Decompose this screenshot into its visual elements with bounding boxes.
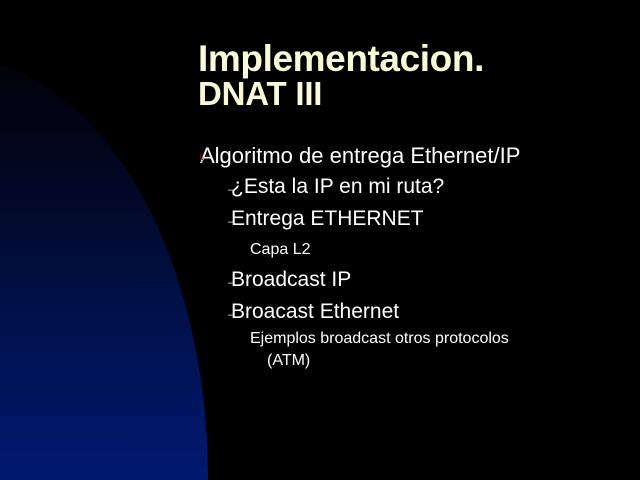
- bullet-marker-icon: §: [199, 143, 204, 174]
- bullet-item-label: Broadcast IP: [231, 264, 351, 296]
- bullet-item-level2: – Broacast Ethernet: [198, 296, 628, 328]
- bullet-item-label-continued: (ATM): [250, 350, 600, 372]
- slide-title-line-1: Implementacion.: [198, 41, 628, 77]
- bullet-item-label: Entrega ETHERNET: [231, 203, 424, 235]
- bullet-item-level2: – Entrega ETHERNET: [198, 203, 628, 235]
- bullet-item-level2: – Broadcast IP: [198, 264, 628, 296]
- bullet-item-label: Algoritmo de entrega Ethernet/IP: [200, 140, 520, 171]
- bullet-item-level3: Capa L2: [198, 235, 628, 264]
- slide-title: Implementacion. DNAT III: [198, 41, 628, 111]
- bullet-item-label: Ejemplos broadcast otros protocolos: [250, 330, 509, 347]
- bullet-item-level1: § Algoritmo de entrega Ethernet/IP: [198, 140, 628, 171]
- bullet-item-level2: – ¿Esta la IP en mi ruta?: [198, 171, 628, 203]
- bullet-item-label: ¿Esta la IP en mi ruta?: [231, 171, 444, 203]
- slide-title-line-2: DNAT III: [198, 77, 628, 111]
- slide-body: § Algoritmo de entrega Ethernet/IP – ¿Es…: [198, 140, 628, 372]
- bullet-marker-icon: –: [228, 298, 235, 330]
- bullet-item-level3: Ejemplos broadcast otros protocolos (ATM…: [198, 328, 600, 372]
- bullet-item-label: Capa L2: [250, 235, 311, 264]
- bullet-marker-icon: –: [228, 173, 235, 205]
- bullet-marker-icon: –: [228, 205, 235, 237]
- bullet-item-label: Broacast Ethernet: [231, 296, 399, 328]
- bullet-marker-icon: –: [228, 266, 235, 298]
- presentation-slide: Implementacion. DNAT III § Algoritmo de …: [0, 0, 640, 480]
- blue-ellipse-decoration: [0, 58, 208, 480]
